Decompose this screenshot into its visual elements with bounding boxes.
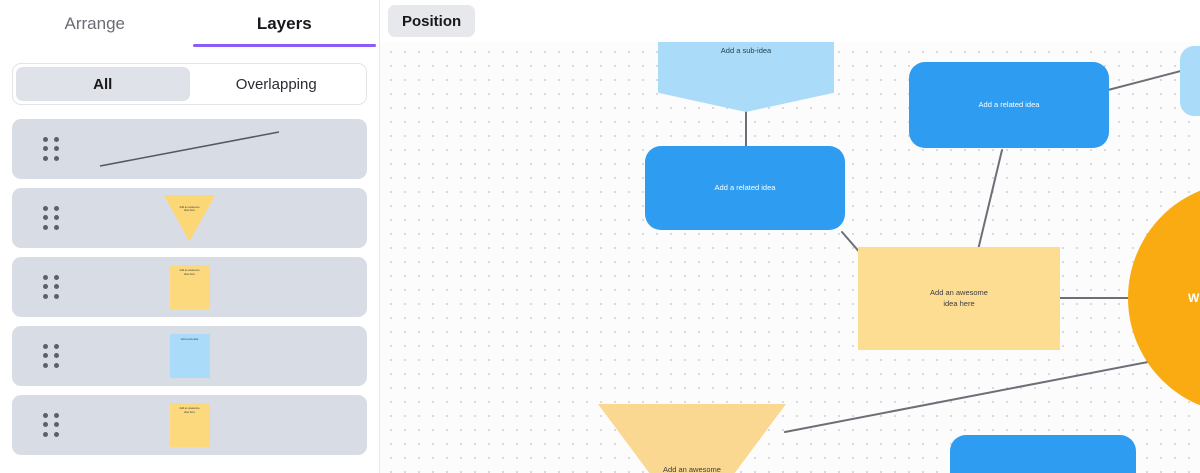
layer-thumbnail-label: Add a sub-idea bbox=[170, 338, 210, 342]
node-label: Add a related idea bbox=[979, 100, 1040, 111]
rectangle-shape-icon: Add an awesome idea here bbox=[170, 403, 210, 447]
filter-option-all[interactable]: All bbox=[16, 67, 190, 101]
layer-filter-wrap: All Overlapping bbox=[0, 47, 379, 105]
canvas-column: Position bbox=[380, 0, 1200, 473]
rectangle-shape-icon: Add a sub-idea bbox=[170, 334, 210, 378]
list-item[interactable]: Add an awesome idea here bbox=[12, 395, 367, 455]
node-label: Add a sub-idea bbox=[721, 46, 771, 57]
mindmap-canvas[interactable]: Add a sub-idea Add a related idea Add a … bbox=[380, 42, 1200, 473]
layer-thumbnail: Add an awesome idea here bbox=[12, 257, 367, 317]
layer-thumbnail: Add an awesome idea here bbox=[12, 395, 367, 455]
layer-thumbnail-label: Add an awesome idea here bbox=[170, 269, 210, 276]
node-label: Add an awesome idea here bbox=[930, 288, 988, 309]
layer-thumbnail-label: Add an awesome idea here bbox=[170, 407, 210, 414]
tab-arrange-label: Arrange bbox=[65, 14, 125, 34]
drag-dots-icon[interactable] bbox=[43, 344, 59, 368]
layer-thumbnail-label: Add an awesome idea here bbox=[164, 206, 216, 213]
layer-list: Add an awesome idea here Add an awesome … bbox=[0, 105, 379, 455]
filter-option-overlapping-label: Overlapping bbox=[236, 76, 317, 93]
layer-thumbnail: Add a sub-idea bbox=[12, 326, 367, 386]
drag-dots-icon[interactable] bbox=[43, 206, 59, 230]
layer-thumbnail bbox=[12, 119, 367, 179]
app-root: Arrange Layers All Overlapping bbox=[0, 0, 1200, 473]
node-awesome-rect[interactable]: Add an awesome idea here bbox=[858, 247, 1060, 350]
list-item[interactable]: Add an awesome idea here bbox=[12, 257, 367, 317]
position-button[interactable]: Position bbox=[388, 5, 475, 37]
layer-thumbnail: Add an awesome idea here bbox=[12, 188, 367, 248]
list-item[interactable] bbox=[12, 119, 367, 179]
layer-filter-segmented: All Overlapping bbox=[12, 63, 367, 105]
rectangle-shape-icon: Add an awesome idea here bbox=[170, 265, 210, 309]
node-label: Add an awesome idea here bbox=[663, 465, 721, 473]
triangle-shape-icon: Add an awesome idea here bbox=[164, 195, 216, 242]
node-related-top[interactable]: Add a related idea bbox=[909, 62, 1109, 148]
filter-option-all-label: All bbox=[93, 76, 112, 93]
node-partial-blue-tr[interactable] bbox=[1180, 46, 1200, 116]
list-item[interactable]: Add an awesome idea here bbox=[12, 188, 367, 248]
line-shape-icon bbox=[97, 128, 283, 170]
drag-dots-icon[interactable] bbox=[43, 275, 59, 299]
node-label: W bbox=[1188, 290, 1199, 307]
list-item[interactable]: Add a sub-idea bbox=[12, 326, 367, 386]
drag-dots-icon[interactable] bbox=[43, 137, 59, 161]
canvas-toolbar: Position bbox=[380, 0, 1200, 42]
filter-option-overlapping[interactable]: Overlapping bbox=[190, 67, 364, 101]
node-related-left[interactable]: Add a related idea bbox=[645, 146, 845, 230]
tab-layers-label: Layers bbox=[257, 14, 312, 34]
node-label: Add a related idea bbox=[715, 183, 776, 194]
sidebar-tabbar: Arrange Layers bbox=[0, 0, 379, 47]
drag-dots-icon[interactable] bbox=[43, 413, 59, 437]
node-partial-blue-br[interactable] bbox=[950, 435, 1136, 473]
tab-layers[interactable]: Layers bbox=[190, 0, 380, 47]
left-sidebar: Arrange Layers All Overlapping bbox=[0, 0, 380, 473]
tab-arrange[interactable]: Arrange bbox=[0, 0, 190, 47]
